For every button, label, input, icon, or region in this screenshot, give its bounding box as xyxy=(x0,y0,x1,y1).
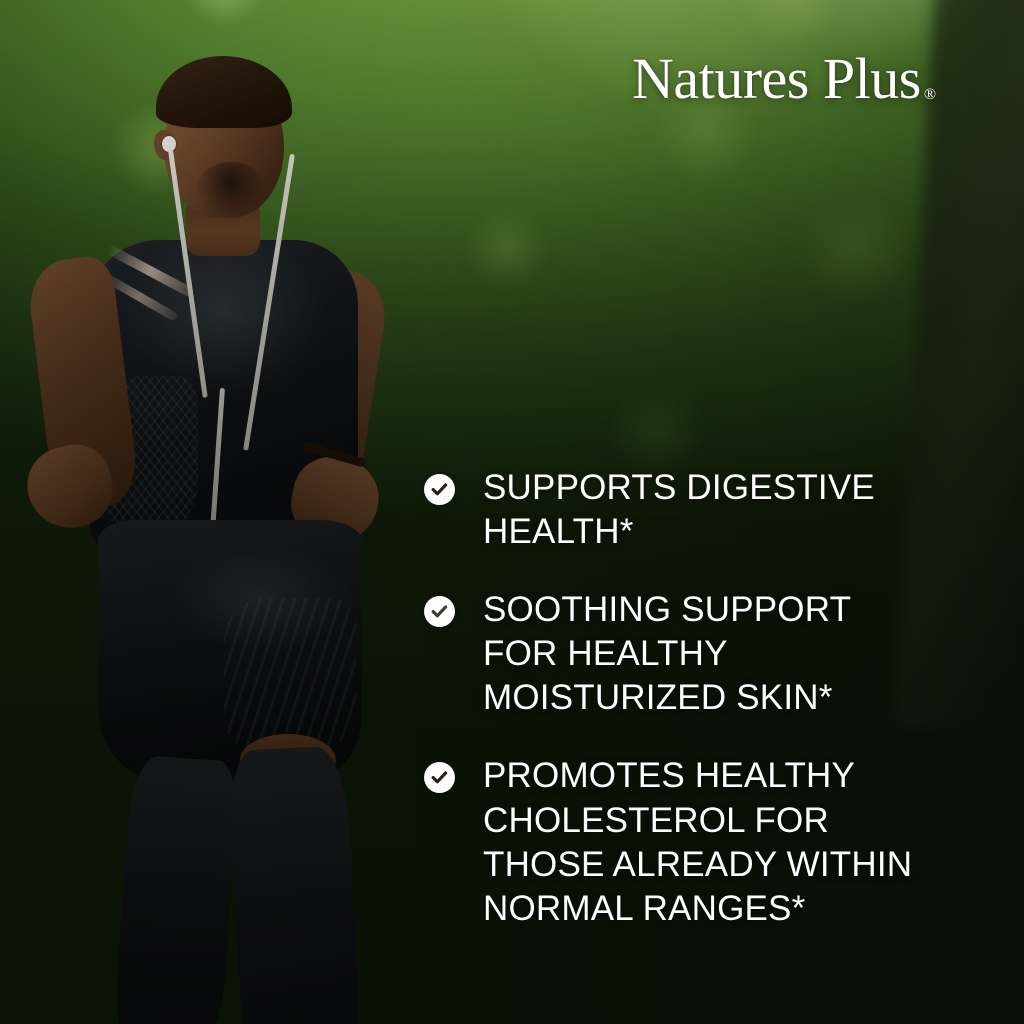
check-circle-icon xyxy=(424,762,455,793)
check-circle-icon xyxy=(424,474,455,505)
benefit-text: SOOTHING SUPPORT FOR HEALTHY MOISTURIZED… xyxy=(483,588,851,720)
benefit-list: SUPPORTS DIGESTIVE HEALTH* SOOTHING SUPP… xyxy=(424,466,944,931)
benefit-text: PROMOTES HEALTHY CHOLESTEROL FOR THOSE A… xyxy=(483,754,912,930)
product-benefit-banner: Natures Plus ® SUPPORTS DIGESTIVE HEALTH… xyxy=(0,0,1024,1024)
registered-trademark-symbol: ® xyxy=(924,87,936,108)
benefit-item: PROMOTES HEALTHY CHOLESTEROL FOR THOSE A… xyxy=(424,754,944,930)
check-circle-icon xyxy=(424,596,455,627)
benefit-item: SOOTHING SUPPORT FOR HEALTHY MOISTURIZED… xyxy=(424,588,944,720)
benefit-text: SUPPORTS DIGESTIVE HEALTH* xyxy=(483,466,875,554)
brand-logo[interactable]: Natures Plus ® xyxy=(632,50,936,108)
brand-logo-wordmark: Natures Plus xyxy=(632,50,921,108)
benefit-item: SUPPORTS DIGESTIVE HEALTH* xyxy=(424,466,944,554)
